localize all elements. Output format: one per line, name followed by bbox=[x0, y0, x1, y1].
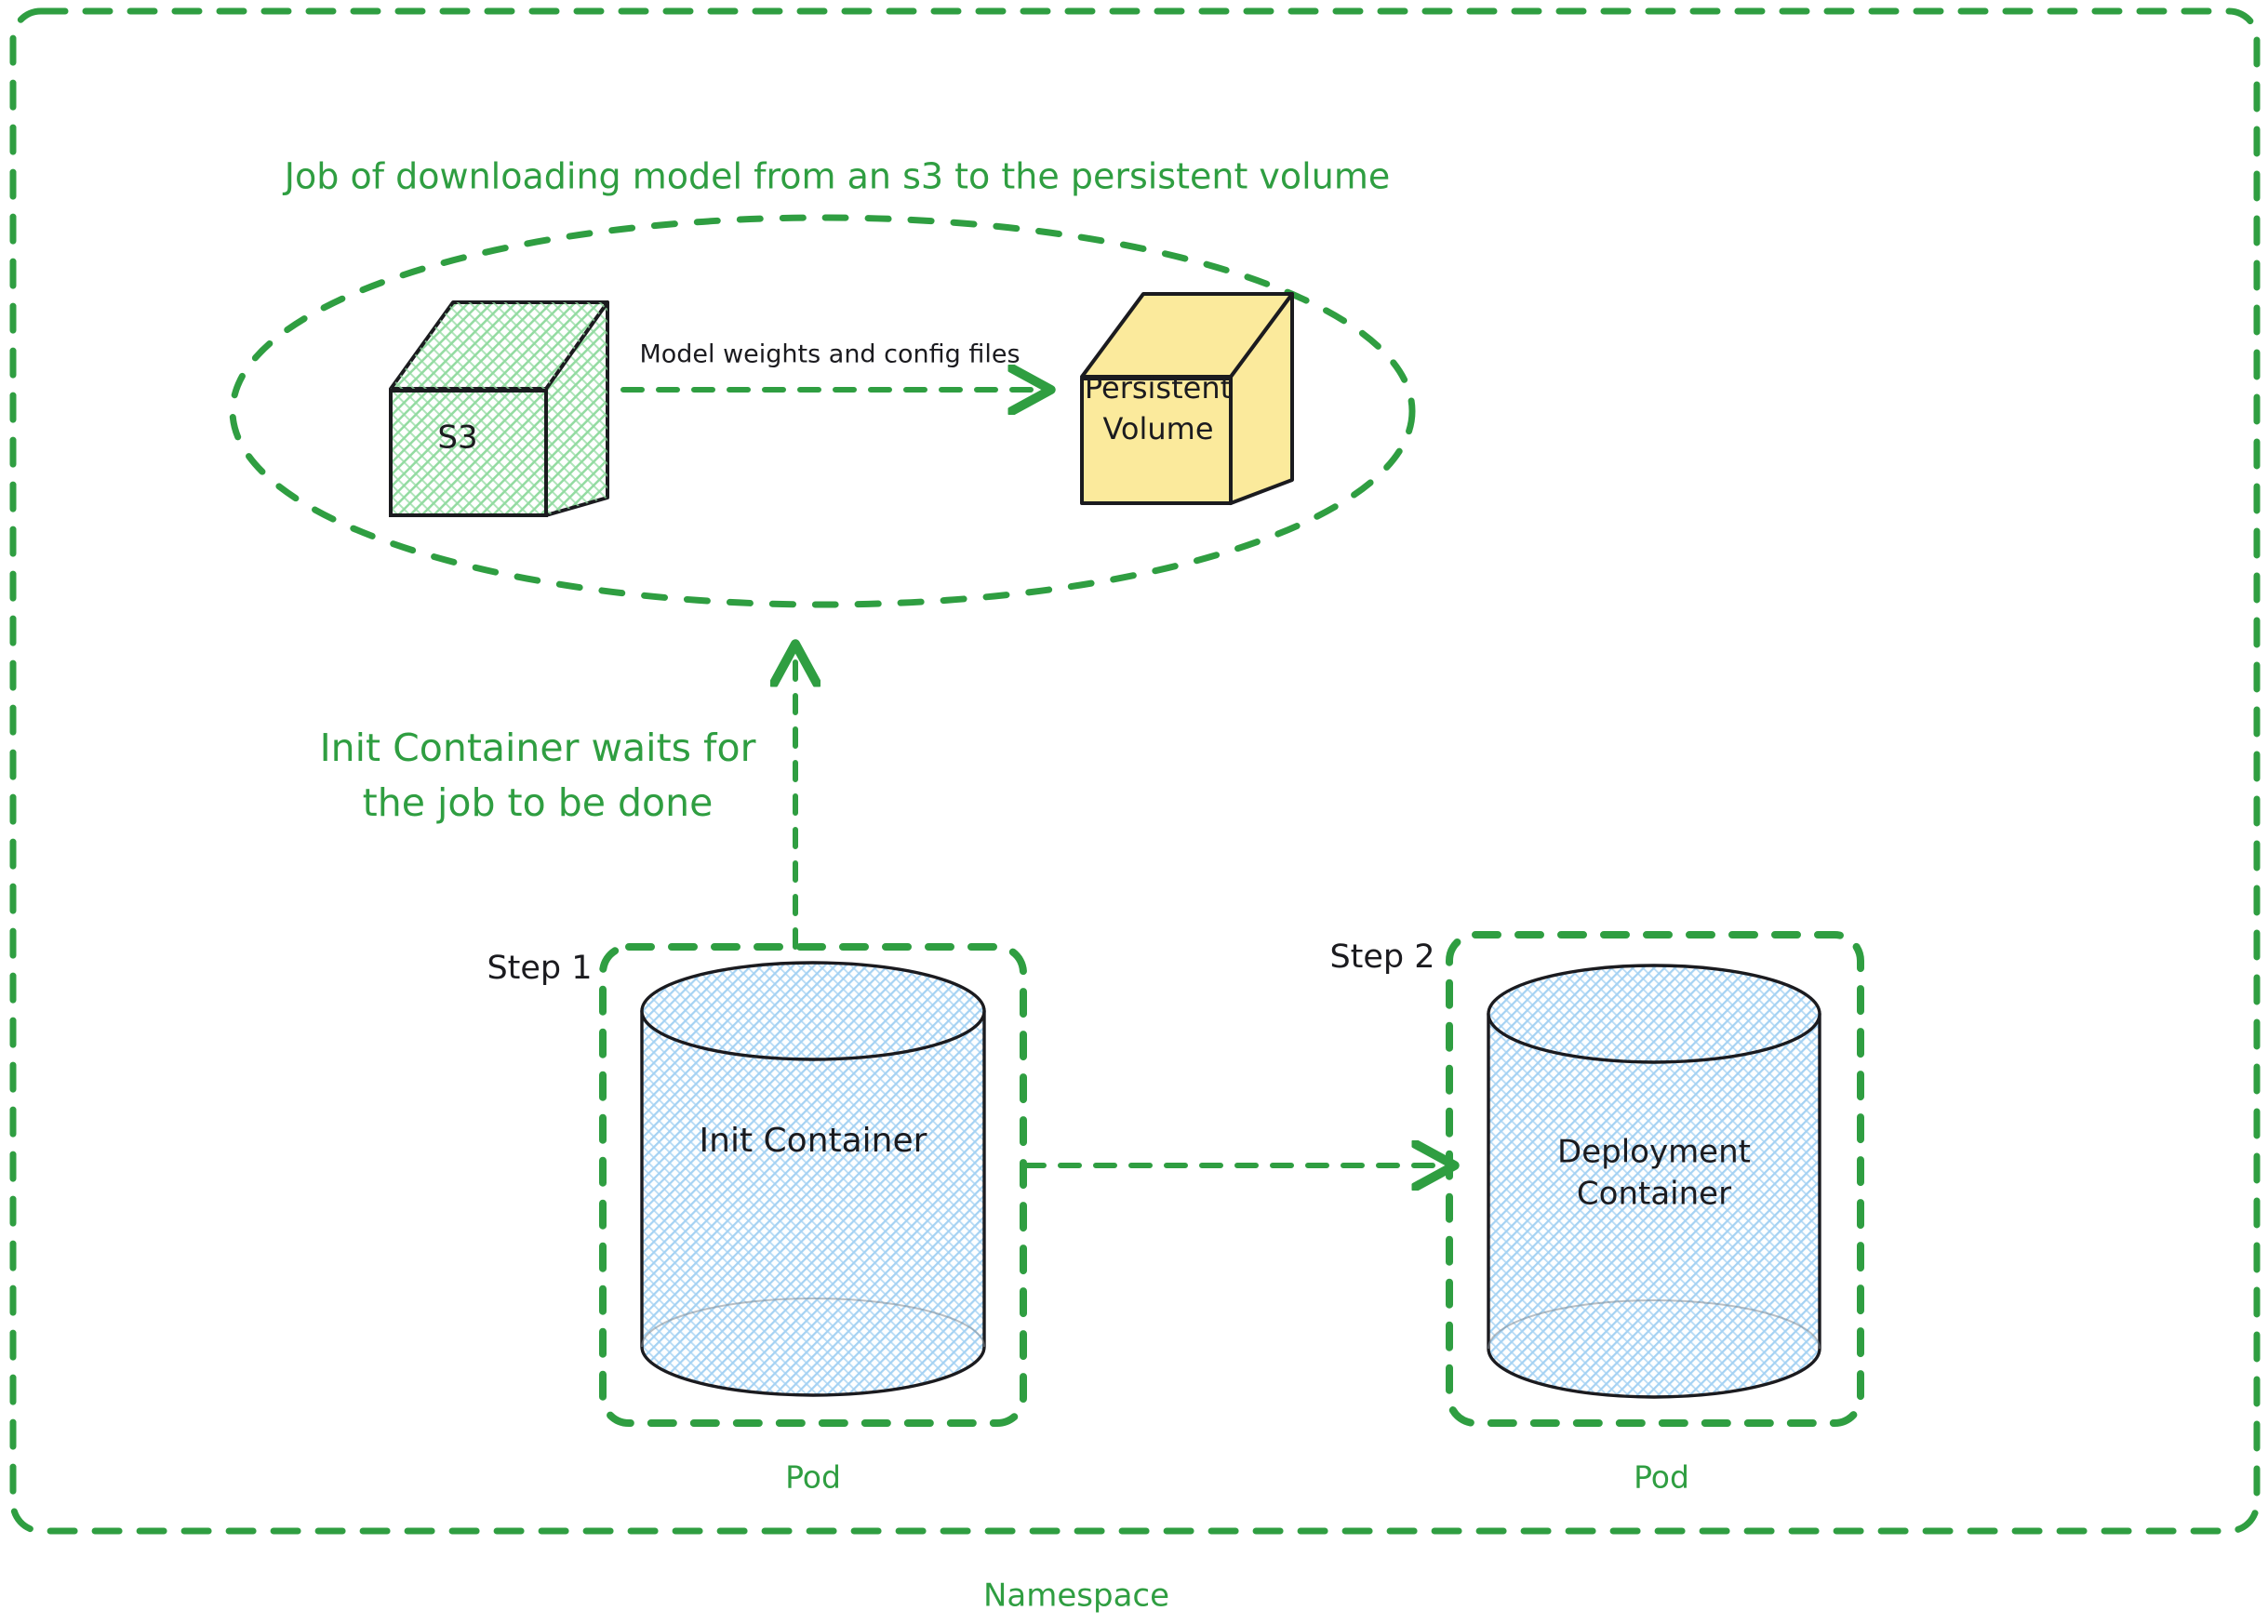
diagram-svg: S3 Model weights and config files Persis… bbox=[0, 0, 2268, 1624]
wait-edge-label-line-2: the job to be done bbox=[363, 780, 714, 825]
step-1-label: Step 1 bbox=[487, 950, 592, 987]
model-weights-edge-label: Model weights and config files bbox=[639, 340, 1020, 369]
namespace-label: Namespace bbox=[983, 1577, 1169, 1615]
deployment-container-cylinder[interactable]: Deployment Container bbox=[1488, 965, 1820, 1397]
deployment-container-label-line-2: Container bbox=[1577, 1176, 1731, 1213]
s3-cube-node[interactable]: S3 bbox=[391, 302, 607, 515]
job-group-caption: Job of downloading model from an s3 to t… bbox=[283, 156, 1390, 197]
model-weights-edge: Model weights and config files bbox=[623, 340, 1044, 391]
persistent-volume-label-line-2: Volume bbox=[1102, 411, 1213, 446]
wait-edge-label-line-1: Init Container waits for bbox=[320, 725, 756, 770]
pod-init-label: Pod bbox=[785, 1459, 841, 1496]
deployment-container-label-line-1: Deployment bbox=[1557, 1134, 1751, 1171]
s3-cube-label: S3 bbox=[437, 419, 477, 457]
persistent-volume-cube-node[interactable]: Persistent Volume bbox=[1082, 294, 1292, 503]
step-2-label: Step 2 bbox=[1329, 938, 1434, 976]
persistent-volume-label-line-1: Persistent bbox=[1085, 370, 1232, 406]
diagram-canvas: S3 Model weights and config files Persis… bbox=[0, 0, 2268, 1624]
pod-deployment-label: Pod bbox=[1634, 1459, 1689, 1496]
init-container-label: Init Container bbox=[700, 1122, 927, 1160]
init-container-cylinder[interactable]: Init Container bbox=[642, 963, 984, 1395]
namespace-boundary bbox=[13, 11, 2257, 1531]
